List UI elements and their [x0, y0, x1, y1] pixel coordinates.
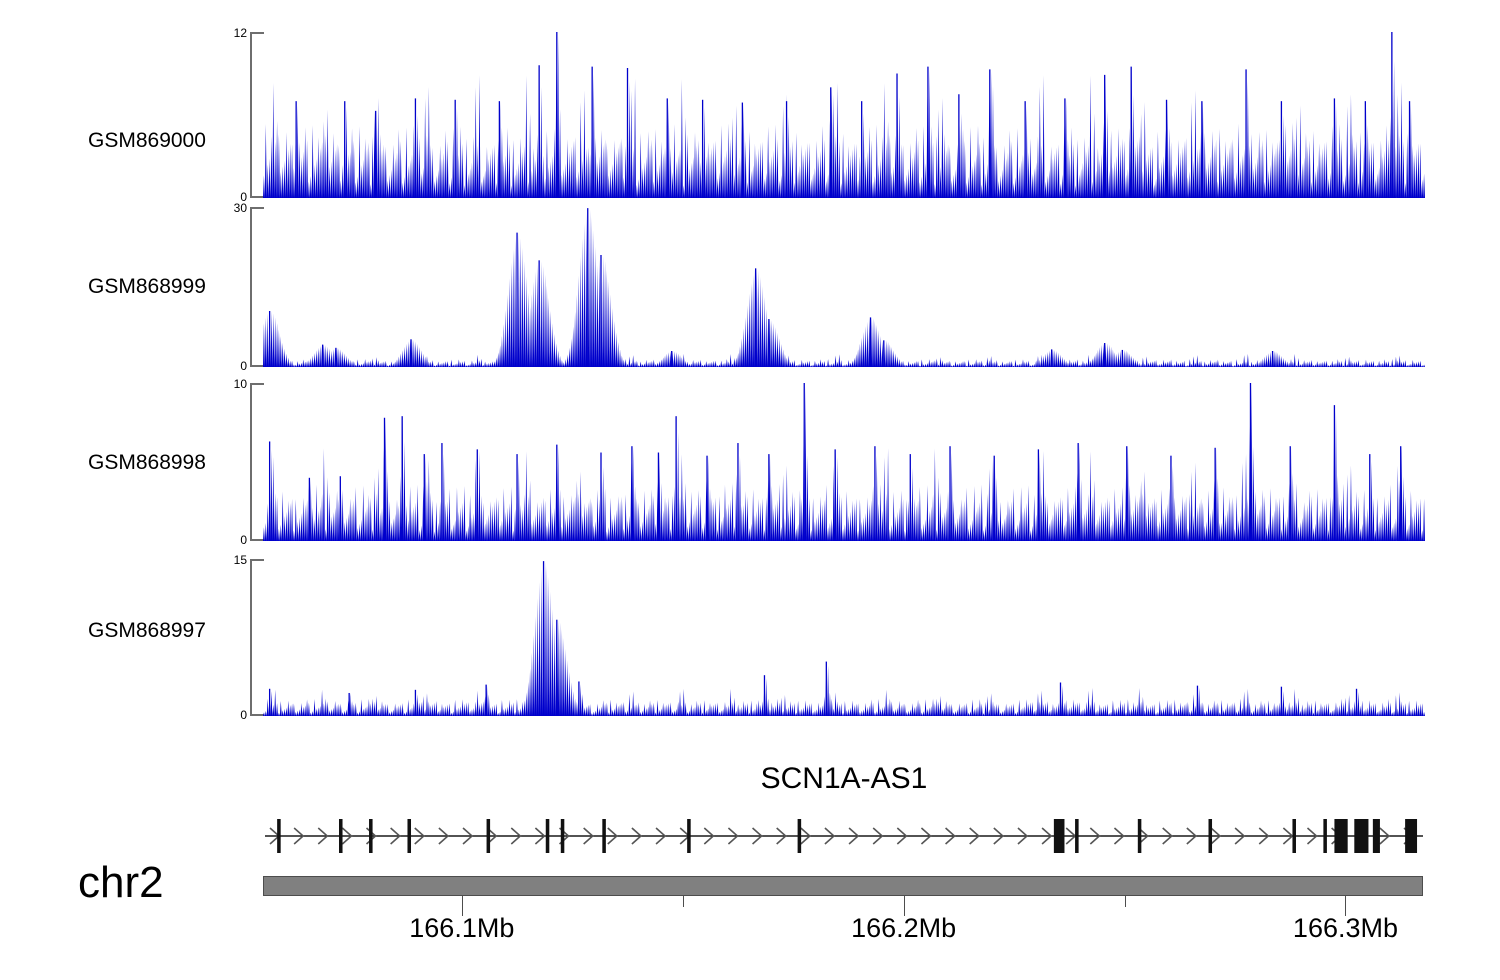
y-axis-max-label-1: 30 [234, 202, 247, 214]
signal-plot-0 [263, 32, 1425, 198]
chromosome-minor-tick [683, 896, 684, 907]
y-axis-min-label-2: 0 [240, 534, 247, 546]
y-axis-2: 10 0 [250, 383, 264, 541]
signal-plot-3 [263, 559, 1425, 716]
track-label-3: GSM868997 [88, 619, 238, 643]
chromosome-tick-labels: 166.1Mb166.2Mb166.3Mb [0, 912, 1500, 952]
signal-track: GSM868999 30 0 [0, 207, 1500, 367]
signal-track: GSM868997 15 0 [0, 559, 1500, 716]
track-label-0: GSM869000 [88, 129, 238, 153]
chromosome-minor-tick [1125, 896, 1126, 907]
signal-plot-2 [263, 383, 1425, 541]
track-label-2: GSM868998 [88, 451, 238, 475]
y-axis-0: 12 0 [250, 32, 264, 198]
gene-model-track[interactable] [263, 812, 1425, 860]
y-axis-min-label-1: 0 [240, 360, 247, 372]
y-axis-3: 15 0 [250, 559, 264, 716]
gene-name-label: SCN1A-AS1 [263, 762, 1425, 796]
chromosome-tick-label: 166.3Mb [1293, 912, 1398, 944]
y-axis-max-label-2: 10 [234, 378, 247, 390]
chromosome-tick-label: 166.2Mb [851, 912, 956, 944]
y-axis-max-label-3: 15 [234, 554, 247, 566]
signal-track: GSM869000 12 0 [0, 32, 1500, 198]
chromosome-label: chr2 [78, 858, 164, 908]
y-axis-max-label-0: 12 [234, 27, 247, 39]
y-axis-1: 30 0 [250, 207, 264, 367]
track-label-1: GSM868999 [88, 275, 238, 299]
chromosome-bar[interactable] [263, 876, 1423, 896]
signal-plot-1 [263, 207, 1425, 367]
signal-track: GSM868998 10 0 [0, 383, 1500, 541]
chromosome-tick-label: 166.1Mb [409, 912, 514, 944]
genome-browser: GSM869000 12 0 GSM868999 30 0 GSM868998 … [0, 0, 1500, 980]
y-axis-min-label-3: 0 [240, 709, 247, 721]
